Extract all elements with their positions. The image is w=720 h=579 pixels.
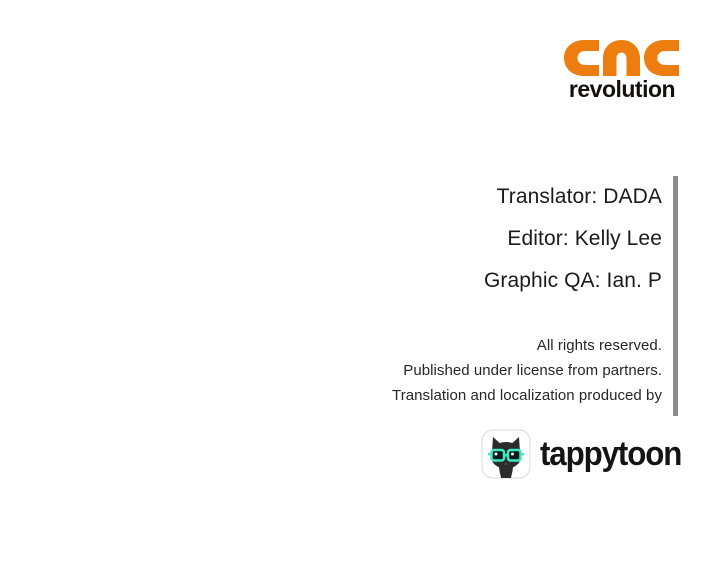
credit-line-editor: Editor: Kelly Lee bbox=[200, 218, 662, 260]
legal-line-rights: All rights reserved. bbox=[180, 333, 662, 358]
legal-line-localization: Translation and localization produced by bbox=[180, 383, 662, 408]
publisher-logo-word: revolution bbox=[562, 76, 682, 102]
tappytoon-cat-icon bbox=[481, 429, 531, 479]
credits-page: revolution Translator: DADA Editor: Kell… bbox=[0, 0, 720, 579]
cnc-wordmark-icon bbox=[562, 38, 682, 78]
legal-line-license: Published under license from partners. bbox=[180, 358, 662, 383]
localizer-logo-tappytoon: tappytoon bbox=[481, 428, 694, 480]
credit-line-graphic-qa: Graphic QA: Ian. P bbox=[200, 260, 662, 302]
legal-block: All rights reserved. Published under lic… bbox=[180, 333, 662, 408]
publisher-logo-cnc-revolution: revolution bbox=[562, 38, 682, 108]
credit-line-translator: Translator: DADA bbox=[200, 176, 662, 218]
credits-block: Translator: DADA Editor: Kelly Lee Graph… bbox=[200, 176, 662, 302]
tappytoon-wordmark: tappytoon bbox=[540, 437, 681, 471]
vertical-rule bbox=[673, 176, 678, 416]
